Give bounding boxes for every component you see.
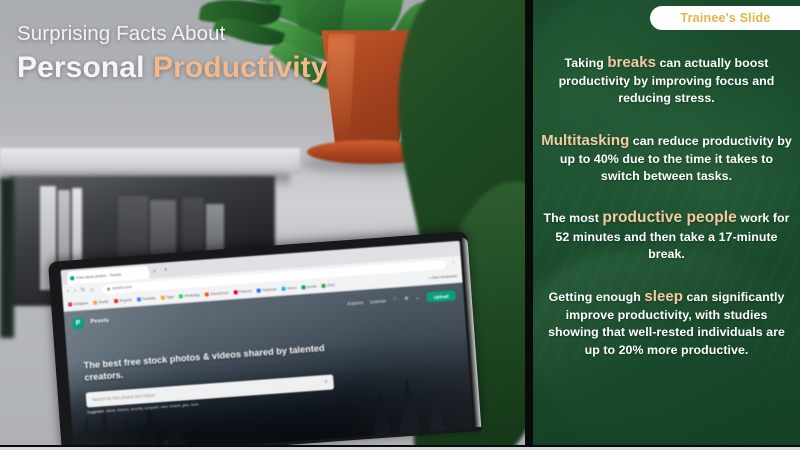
bookmark-favicon-icon <box>136 297 140 301</box>
shelf-edge <box>0 148 300 174</box>
fact-highlight-term: sleep <box>644 288 683 305</box>
bookmark-favicon-icon <box>68 302 72 306</box>
bookmark-item[interactable]: SoundCloud <box>205 291 229 297</box>
trainee-slide-badge[interactable]: Trainee's Slide <box>650 6 800 30</box>
search-placeholder: Search for free photos and videos <box>92 393 155 403</box>
address-bar-url: pexels.com <box>113 285 132 290</box>
home-icon[interactable]: ⌂ <box>90 287 94 293</box>
fact-item: Multitasking can reduce productivity by … <box>541 130 792 186</box>
photo-panel: Free stock photos · Pexels × + ‹ › ↻ ⌂ p… <box>0 0 525 450</box>
fact-highlight-term: breaks <box>607 54 656 71</box>
title-word-productivity: Productivity <box>153 51 328 84</box>
nav-link-license[interactable]: License <box>370 298 386 304</box>
slide-root: Free stock photos · Pexels × + ‹ › ↻ ⌂ p… <box>0 0 800 450</box>
bookmark-label: Facebook <box>262 287 277 292</box>
bookmark-item[interactable]: Router <box>93 300 109 305</box>
facts-panel: Trainee's Slide Taking breaks can actual… <box>533 0 800 450</box>
avatar-icon[interactable]: ⊕ <box>404 296 409 302</box>
heart-icon[interactable]: ♡ <box>393 297 398 303</box>
pexels-logo-wordmark[interactable]: Pexels <box>90 318 109 325</box>
forward-arrow-icon[interactable]: › <box>74 288 76 294</box>
upload-button[interactable]: Upload <box>426 290 456 302</box>
slide-title: Surprising Facts About Personal Producti… <box>17 22 328 85</box>
bookmark-label: Vimeo <box>287 286 297 291</box>
tree <box>427 394 446 431</box>
laptop-screen: Free stock photos · Pexels × + ‹ › ↻ ⌂ p… <box>61 241 474 450</box>
bookmark-label: Pinterest <box>239 289 252 294</box>
bookmark-item[interactable]: Translate <box>136 296 155 301</box>
nav-link-explore[interactable]: Explore <box>347 300 363 306</box>
tree <box>141 405 160 450</box>
bookmark-item[interactable]: pexels <box>301 284 316 289</box>
title-word-personal: Personal <box>17 51 145 84</box>
bookmark-label: Translate <box>142 296 156 301</box>
fact-highlight-term: productive people <box>602 209 736 226</box>
fact-item: Getting enough sleep can significantly i… <box>541 286 792 359</box>
bookmark-item[interactable]: 2FAC <box>321 283 335 288</box>
fact-highlight-term: Multitasking <box>541 132 629 149</box>
bookmark-item[interactable]: Pinterest <box>233 289 252 294</box>
bookmark-favicon-icon <box>113 299 117 303</box>
bookmark-item[interactable]: Instagram <box>68 301 88 306</box>
browser-menu-icon[interactable]: ⋮ <box>450 260 456 266</box>
fact-item: The most productive people work for 52 m… <box>541 207 792 263</box>
browser-tab-title: Free stock photos · Pexels <box>76 272 121 279</box>
title-heading: Personal Productivity <box>17 51 328 85</box>
bookmark-favicon-icon <box>257 288 261 292</box>
laptop: Free stock photos · Pexels × + ‹ › ↻ ⌂ p… <box>48 231 482 450</box>
reload-icon[interactable]: ↻ <box>81 287 86 293</box>
bookmark-label: pexels <box>307 284 317 289</box>
bookmark-item[interactable]: All gmail <box>113 298 131 303</box>
other-bookmarks-item[interactable]: » Other Bookmarks <box>429 274 458 280</box>
close-icon[interactable]: × <box>153 269 156 275</box>
bookmark-favicon-icon <box>205 292 209 296</box>
favicon <box>70 276 74 280</box>
chevron-down-icon[interactable]: ⌄ <box>415 295 420 301</box>
bookmark-favicon-icon <box>160 296 164 300</box>
bookmark-label: SoundCloud <box>210 291 228 296</box>
search-icon[interactable]: ⌕ <box>324 379 328 386</box>
fact-text-pre: The most <box>543 211 602 225</box>
cubby-left-shadow <box>0 178 14 338</box>
bookmark-item[interactable]: WhatsApp <box>179 293 200 299</box>
bookmark-label: 2FAC <box>327 283 336 288</box>
panel-divider <box>525 0 533 450</box>
bookmark-favicon-icon <box>301 285 305 289</box>
bookmark-favicon-icon <box>321 284 325 288</box>
bookmark-label: All gmail <box>119 298 132 303</box>
bookmark-label: Router <box>99 300 109 305</box>
pexels-logo-icon[interactable]: P <box>72 317 84 329</box>
new-tab-icon[interactable]: + <box>164 267 168 273</box>
tree <box>395 376 421 433</box>
bookmark-favicon-icon <box>179 294 183 298</box>
bookmark-item[interactable]: Tipjar <box>160 295 174 300</box>
fact-text-pre: Getting enough <box>549 290 645 304</box>
bookmark-label: WhatsApp <box>185 293 200 298</box>
facts-list: Taking breaks can actually boost product… <box>533 52 800 381</box>
bookmark-item[interactable]: Facebook <box>257 287 277 292</box>
lock-icon <box>107 287 110 290</box>
bookmark-favicon-icon <box>93 301 97 305</box>
bookmark-label: Instagram <box>74 301 89 306</box>
bookmark-label: Tipjar <box>166 295 174 300</box>
bookmark-favicon-icon <box>282 287 286 291</box>
fact-item: Taking breaks can actually boost product… <box>541 52 792 108</box>
fact-text-pre: Taking <box>565 56 608 70</box>
trainee-slide-badge-label: Trainee's Slide <box>680 11 794 25</box>
bookmark-favicon-icon <box>233 290 237 294</box>
tree <box>371 392 392 435</box>
back-arrow-icon[interactable]: ‹ <box>67 289 69 295</box>
bookmark-item[interactable]: Vimeo <box>282 286 297 291</box>
title-subheading: Surprising Facts About <box>17 22 328 46</box>
